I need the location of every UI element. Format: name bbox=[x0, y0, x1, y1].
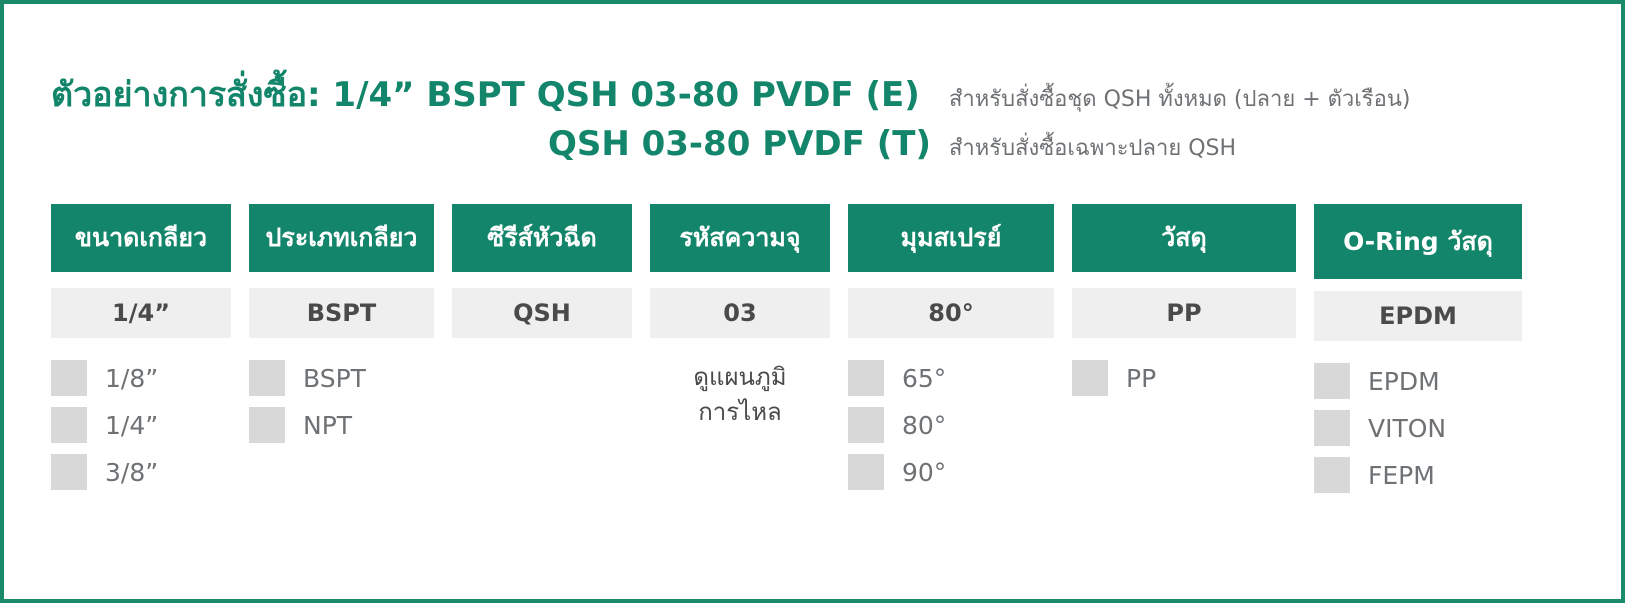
column-value-spray-angle: 80° bbox=[848, 288, 1054, 338]
spec-columns: ขนาดเกลียว 1/4” 1/8” 1/4” 3/8” ประเภทเกล… bbox=[51, 204, 1581, 493]
column-options-material: PP bbox=[1072, 360, 1296, 396]
option-item[interactable]: FEPM bbox=[1314, 457, 1522, 493]
column-thread-type: ประเภทเกลียว BSPT BSPT NPT bbox=[249, 204, 434, 443]
column-value-nozzle-series: QSH bbox=[452, 288, 632, 338]
option-label: 90° bbox=[902, 458, 946, 487]
option-item[interactable]: PP bbox=[1072, 360, 1296, 396]
swatch-icon bbox=[1314, 363, 1350, 399]
option-item[interactable]: 1/4” bbox=[51, 407, 231, 443]
column-value-oring-material: EPDM bbox=[1314, 291, 1522, 341]
column-value-thread-type: BSPT bbox=[249, 288, 434, 338]
option-label: 80° bbox=[902, 411, 946, 440]
option-label: 3/8” bbox=[105, 458, 158, 487]
column-header-nozzle-series: ซีรีส์หัวฉีด bbox=[452, 204, 632, 272]
option-label: EPDM bbox=[1368, 367, 1440, 396]
column-material: วัสดุ PP PP bbox=[1072, 204, 1296, 396]
option-item[interactable]: VITON bbox=[1314, 410, 1522, 446]
example-code-tip: QSH 03-80 PVDF (T) bbox=[51, 125, 931, 164]
example-note-tip: สำหรับสั่งซื้อเฉพาะปลาย QSH bbox=[949, 136, 1236, 162]
example-row-assembly: ตัวอย่างการสั่งซื้อ: 1/4” BSPT QSH 03-80… bbox=[51, 76, 1551, 115]
column-header-thread-size: ขนาดเกลียว bbox=[51, 204, 231, 272]
column-spray-angle: มุมสเปรย์ 80° 65° 80° 90° bbox=[848, 204, 1054, 490]
swatch-icon bbox=[51, 454, 87, 490]
option-label: BSPT bbox=[303, 364, 366, 393]
column-capacity-code: รหัสความจุ 03 ดูแผนภูมิ การไหล bbox=[650, 204, 830, 430]
option-item[interactable]: 1/8” bbox=[51, 360, 231, 396]
option-label: VITON bbox=[1368, 414, 1446, 443]
option-item[interactable]: NPT bbox=[249, 407, 434, 443]
column-options-thread-size: 1/8” 1/4” 3/8” bbox=[51, 360, 231, 490]
swatch-icon bbox=[1314, 457, 1350, 493]
swatch-icon bbox=[848, 360, 884, 396]
option-item[interactable]: 80° bbox=[848, 407, 1054, 443]
example-row-tip: QSH 03-80 PVDF (T) สำหรับสั่งซื้อเฉพาะปล… bbox=[51, 125, 1551, 164]
swatch-icon bbox=[51, 360, 87, 396]
column-oring-material: O-Ring วัสดุ EPDM EPDM VITON FEPM bbox=[1314, 204, 1522, 493]
column-note-capacity-code: ดูแผนภูมิ การไหล bbox=[650, 360, 830, 430]
swatch-icon bbox=[848, 407, 884, 443]
swatch-icon bbox=[1314, 410, 1350, 446]
swatch-icon bbox=[51, 407, 87, 443]
option-item[interactable]: 65° bbox=[848, 360, 1054, 396]
column-nozzle-series: ซีรีส์หัวฉีด QSH bbox=[452, 204, 632, 338]
column-value-capacity-code: 03 bbox=[650, 288, 830, 338]
column-header-spray-angle: มุมสเปรย์ bbox=[848, 204, 1054, 272]
column-options-thread-type: BSPT NPT bbox=[249, 360, 434, 443]
swatch-icon bbox=[249, 360, 285, 396]
option-item[interactable]: 3/8” bbox=[51, 454, 231, 490]
column-options-spray-angle: 65° 80° 90° bbox=[848, 360, 1054, 490]
example-code-assembly: ตัวอย่างการสั่งซื้อ: 1/4” BSPT QSH 03-80… bbox=[51, 76, 931, 115]
option-item[interactable]: 90° bbox=[848, 454, 1054, 490]
option-item[interactable]: BSPT bbox=[249, 360, 434, 396]
column-header-material: วัสดุ bbox=[1072, 204, 1296, 272]
column-options-oring-material: EPDM VITON FEPM bbox=[1314, 363, 1522, 493]
option-label: FEPM bbox=[1368, 461, 1435, 490]
swatch-icon bbox=[249, 407, 285, 443]
column-header-oring-material: O-Ring วัสดุ bbox=[1314, 204, 1522, 279]
example-order-block: ตัวอย่างการสั่งซื้อ: 1/4” BSPT QSH 03-80… bbox=[51, 76, 1551, 164]
swatch-icon bbox=[848, 454, 884, 490]
column-header-thread-type: ประเภทเกลียว bbox=[249, 204, 434, 272]
option-label: 1/8” bbox=[105, 364, 158, 393]
option-label: PP bbox=[1126, 364, 1156, 393]
swatch-icon bbox=[1072, 360, 1108, 396]
example-note-assembly: สำหรับสั่งซื้อชุด QSH ทั้งหมด (ปลาย + ตั… bbox=[949, 87, 1410, 113]
option-label: NPT bbox=[303, 411, 352, 440]
column-value-material: PP bbox=[1072, 288, 1296, 338]
option-label: 65° bbox=[902, 364, 946, 393]
column-value-thread-size: 1/4” bbox=[51, 288, 231, 338]
option-label: 1/4” bbox=[105, 411, 158, 440]
option-item[interactable]: EPDM bbox=[1314, 363, 1522, 399]
column-header-capacity-code: รหัสความจุ bbox=[650, 204, 830, 272]
column-thread-size: ขนาดเกลียว 1/4” 1/8” 1/4” 3/8” bbox=[51, 204, 231, 490]
order-code-diagram: ตัวอย่างการสั่งซื้อ: 1/4” BSPT QSH 03-80… bbox=[0, 0, 1625, 603]
